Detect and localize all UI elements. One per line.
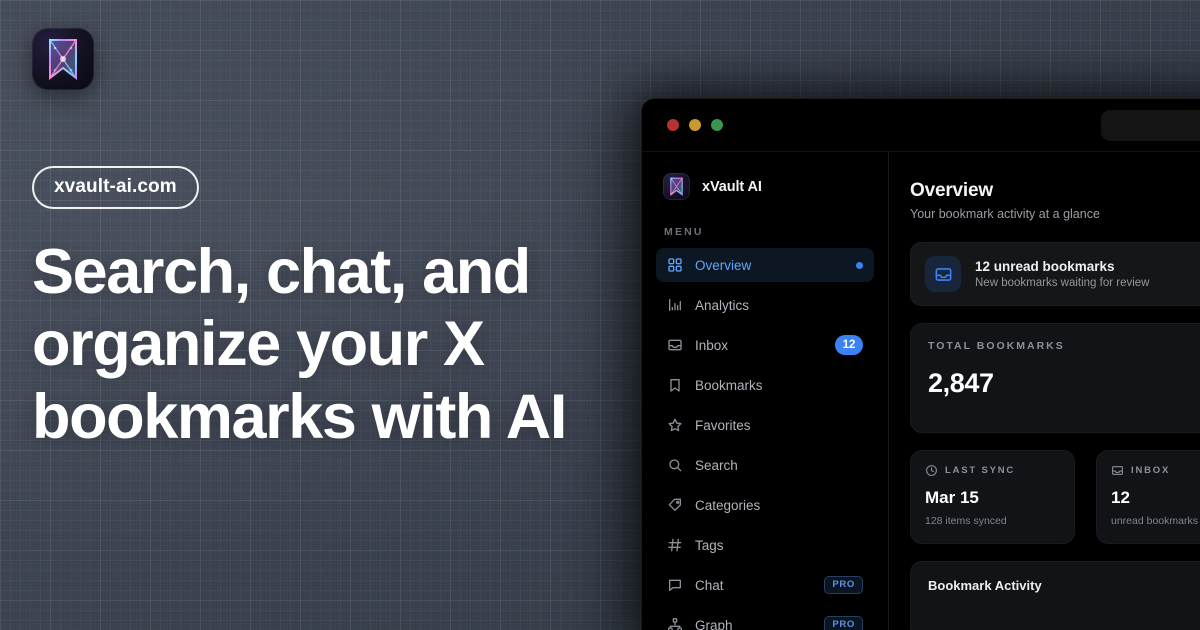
menu-section-label: MENU	[656, 226, 874, 238]
star-icon	[667, 417, 683, 433]
domain-pill: xvault-ai.com	[32, 166, 199, 209]
pro-badge: PRO	[824, 576, 863, 594]
window-body: xVault AI MENU Overview Analytics	[642, 152, 1200, 630]
stat-subtext: 128 items synced	[925, 515, 1060, 527]
sidebar-item-label: Tags	[695, 538, 863, 553]
sidebar-item-analytics[interactable]: Analytics	[656, 288, 874, 322]
inbox-icon	[1111, 464, 1124, 477]
total-bookmarks-card: TOTAL BOOKMARKS 2,847	[910, 323, 1200, 433]
sidebar-item-label: Chat	[695, 578, 812, 593]
sidebar-item-label: Bookmarks	[695, 378, 863, 393]
sidebar-item-favorites[interactable]: Favorites	[656, 408, 874, 442]
stat-label: INBOX	[1131, 465, 1170, 476]
inbox-count-badge: 12	[835, 335, 863, 355]
inbox-icon	[667, 337, 683, 353]
stat-value: 12	[1111, 488, 1200, 508]
stat-label: LAST SYNC	[945, 465, 1015, 476]
sidebar-item-label: Favorites	[695, 418, 863, 433]
hero-section: xvault-ai.com Search, chat, and organize…	[32, 28, 632, 453]
bookmark-glyph	[32, 28, 94, 90]
bookmark-icon	[667, 377, 683, 393]
stat-value: Mar 15	[925, 488, 1060, 508]
inbox-icon	[925, 256, 961, 292]
xvault-bookmark-logo-icon-small	[663, 173, 690, 200]
brand-name: xVault AI	[702, 179, 762, 195]
sidebar-item-label: Graph	[695, 618, 812, 630]
node-graph-icon	[667, 617, 683, 630]
main-title: Overview	[910, 180, 1200, 202]
close-button[interactable]	[667, 119, 679, 131]
stat-subtext: unread bookmarks	[1111, 515, 1200, 527]
sidebar-item-label: Inbox	[695, 338, 823, 353]
sidebar-item-label: Search	[695, 458, 863, 473]
banner-subtitle: New bookmarks waiting for review	[975, 277, 1149, 289]
pro-badge: PRO	[824, 616, 863, 630]
clock-icon	[925, 464, 938, 477]
sidebar-brand[interactable]: xVault AI	[656, 173, 874, 200]
sidebar-item-bookmarks[interactable]: Bookmarks	[656, 368, 874, 402]
tag-icon	[667, 497, 683, 513]
chat-bubble-icon	[667, 577, 683, 593]
sidebar-item-chat[interactable]: Chat PRO	[656, 568, 874, 602]
domain-text: xvault-ai.com	[54, 177, 177, 196]
last-sync-card: LAST SYNC Mar 15 128 items synced	[910, 450, 1075, 544]
sidebar-item-tags[interactable]: Tags	[656, 528, 874, 562]
xvault-bookmark-logo-icon	[32, 28, 94, 90]
sidebar-item-overview[interactable]: Overview	[656, 248, 874, 282]
banner-title: 12 unread bookmarks	[975, 259, 1149, 274]
activity-title: Bookmark Activity	[928, 578, 1200, 593]
url-bar[interactable]: x	[1101, 110, 1200, 141]
inbox-stat-card: INBOX 12 unread bookmarks	[1096, 450, 1200, 544]
page-title: Search, chat, and organize your X bookma…	[32, 236, 572, 453]
hash-icon	[667, 537, 683, 553]
active-dot-indicator	[856, 262, 863, 269]
stat-header: LAST SYNC	[925, 464, 1060, 477]
sidebar-item-search[interactable]: Search	[656, 448, 874, 482]
main-subtitle: Your bookmark activity at a glance	[910, 207, 1200, 221]
total-bookmarks-value: 2,847	[928, 368, 1200, 399]
stat-card-row: LAST SYNC Mar 15 128 items synced INBOX …	[910, 450, 1200, 544]
main-content: Overview Your bookmark activity at a gla…	[889, 152, 1200, 630]
maximize-button[interactable]	[711, 119, 723, 131]
sidebar-item-graph[interactable]: Graph PRO	[656, 608, 874, 630]
minimize-button[interactable]	[689, 119, 701, 131]
bar-chart-icon	[667, 297, 683, 313]
bookmark-activity-card: Bookmark Activity	[910, 561, 1200, 630]
sidebar: xVault AI MENU Overview Analytics	[642, 152, 889, 630]
sidebar-item-categories[interactable]: Categories	[656, 488, 874, 522]
grid-icon	[667, 257, 683, 273]
stat-header: INBOX	[1111, 464, 1200, 477]
sidebar-item-label: Categories	[695, 498, 863, 513]
traffic-light-group	[642, 119, 723, 131]
inbox-glyph	[934, 265, 953, 284]
sidebar-item-label: Analytics	[695, 298, 863, 313]
search-icon	[667, 457, 683, 473]
app-window: x xVault AI MENU O	[641, 98, 1200, 630]
bookmark-glyph-small	[663, 173, 690, 200]
sidebar-item-inbox[interactable]: Inbox 12	[656, 328, 874, 362]
window-titlebar: x	[642, 99, 1200, 152]
unread-bookmarks-banner[interactable]: 12 unread bookmarks New bookmarks waitin…	[910, 242, 1200, 306]
card-label: TOTAL BOOKMARKS	[928, 340, 1200, 352]
sidebar-item-label: Overview	[695, 258, 844, 273]
